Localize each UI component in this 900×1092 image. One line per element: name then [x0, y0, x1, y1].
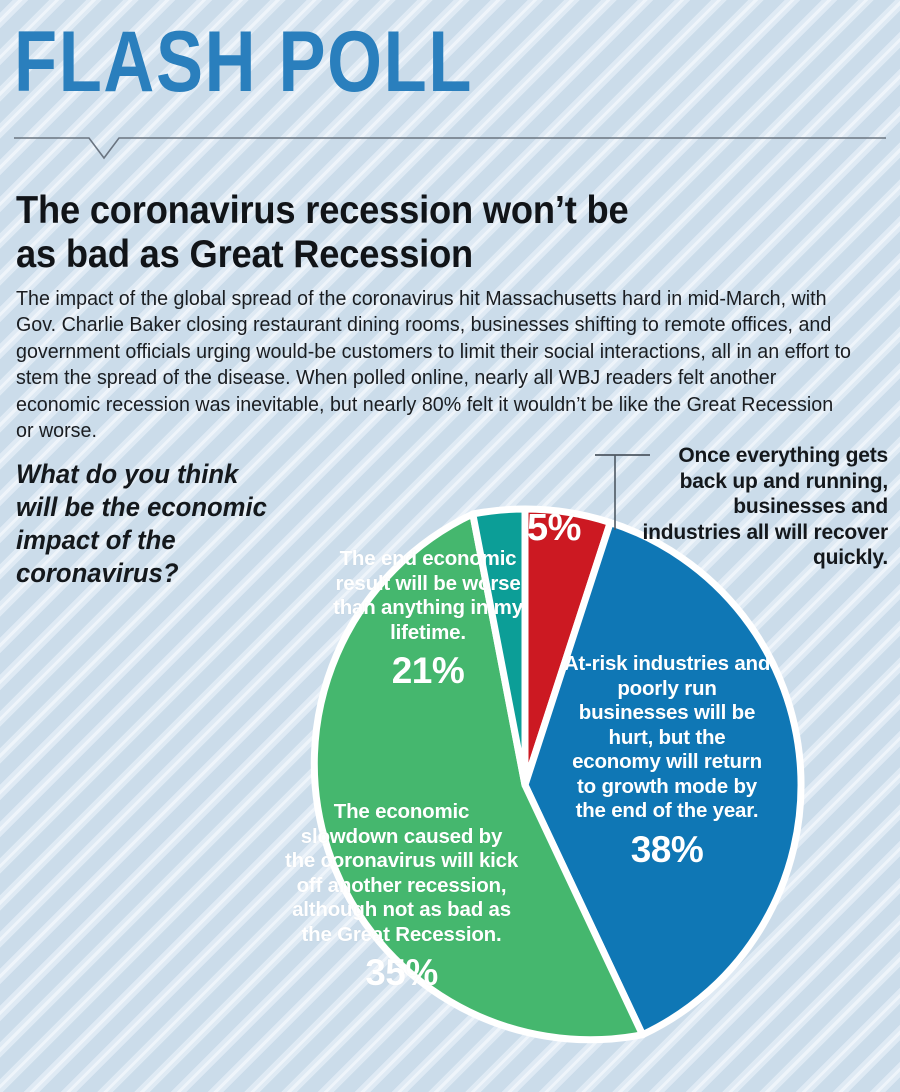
masthead-divider-rule [14, 132, 886, 162]
pie-label-percent: 5% [518, 507, 590, 549]
callout-text: Once everything gets back up and running… [630, 443, 888, 571]
poll-question: What do you think will be the economic i… [16, 458, 268, 590]
pie-label-text: The economic slowdown caused by the coro… [284, 800, 519, 947]
body-paragraph: The impact of the global spread of the c… [16, 286, 853, 445]
pie-label-another-recession-not-as-bad: The economic slowdown caused by the coro… [284, 800, 519, 995]
headline: The coronavirus recession won’t be as ba… [16, 189, 630, 277]
pie-label-text: The end economic result will be worse th… [328, 547, 528, 645]
pie-label-percent: 35% [284, 951, 519, 995]
pie-label-text: At-risk industries and poorly run busine… [562, 652, 772, 824]
pie-label-percent: 21% [328, 649, 528, 693]
pie-label-worse-than-lifetime: The end economic result will be worse th… [328, 547, 528, 693]
pie-label-recover-quickly: 5% [518, 507, 590, 549]
pie-label-growth-mode-by-year-end: At-risk industries and poorly run busine… [562, 652, 772, 872]
flash-poll-infographic: FLASH POLL The coronavirus recession won… [0, 0, 900, 1092]
pie-label-percent: 38% [562, 828, 772, 872]
page-title: FLASH POLL [14, 14, 473, 110]
